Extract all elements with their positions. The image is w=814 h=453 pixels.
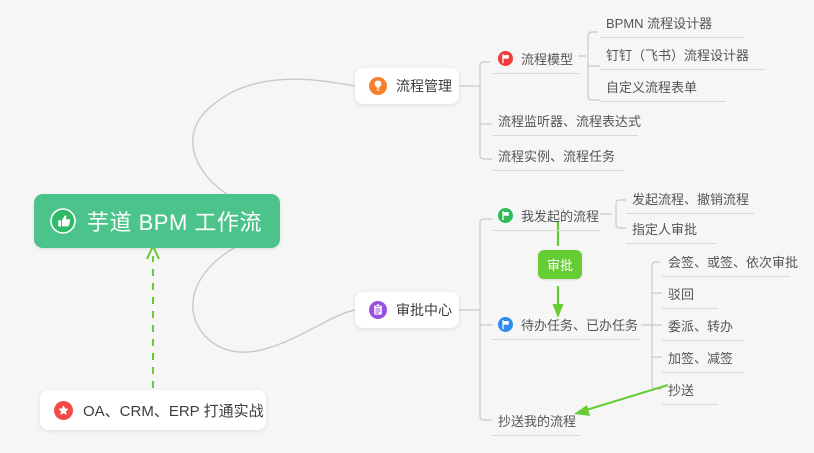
integration-dashed-arrow	[147, 246, 159, 388]
leaf-bpmn-designer[interactable]: BPMN 流程设计器	[600, 10, 744, 38]
leaf-process-listener[interactable]: 流程监听器、流程表达式	[492, 108, 638, 136]
leaf-label: 待办任务、已办任务	[521, 315, 638, 334]
leaf-dingtalk-designer[interactable]: 钉钉（飞书）流程设计器	[600, 42, 765, 70]
clipboard-icon	[369, 301, 387, 319]
star-icon	[54, 401, 73, 420]
root-node[interactable]: 芋道 BPM 工作流	[34, 194, 280, 248]
thumbs-up-icon	[50, 208, 76, 234]
leaf-todo-done-tasks[interactable]: 待办任务、已办任务	[492, 312, 641, 340]
flag-icon	[498, 317, 513, 332]
leaf-reject[interactable]: 驳回	[662, 281, 718, 309]
branch-process-management[interactable]: 流程管理	[355, 68, 459, 104]
lightbulb-icon	[369, 77, 387, 95]
root-label: 芋道 BPM 工作流	[87, 205, 262, 237]
leaf-custom-form[interactable]: 自定义流程表单	[600, 74, 726, 102]
cc-flow-arrow	[574, 385, 668, 416]
leaf-process-instance[interactable]: 流程实例、流程任务	[492, 143, 624, 171]
mindmap-canvas: 芋道 BPM 工作流 流程管理 流程模型 BPMN 流程设计器 钉钉（飞书）流程…	[0, 0, 814, 453]
leaf-cc-to-me-process[interactable]: 抄送我的流程	[492, 408, 580, 436]
branch-label: 流程管理	[396, 76, 452, 96]
branch-approval-center[interactable]: 审批中心	[355, 292, 459, 328]
integration-card[interactable]: OA、CRM、ERP 打通实战	[40, 390, 266, 430]
leaf-delegate-transfer[interactable]: 委派、转办	[662, 313, 744, 341]
leaf-label: 我发起的流程	[521, 206, 599, 225]
branch-label: 审批中心	[396, 300, 452, 320]
leaf-start-cancel-process[interactable]: 发起流程、撤销流程	[626, 186, 754, 214]
leaf-assignee-approval[interactable]: 指定人审批	[626, 216, 716, 244]
annotation-approval-chip: 审批	[538, 250, 582, 279]
leaf-add-remove-sign[interactable]: 加签、减签	[662, 345, 744, 373]
leaf-label: 流程模型	[521, 49, 573, 68]
leaf-cc[interactable]: 抄送	[662, 377, 718, 405]
integration-label: OA、CRM、ERP 打通实战	[83, 400, 264, 421]
leaf-countersign[interactable]: 会签、或签、依次审批	[662, 249, 790, 277]
flag-icon	[498, 208, 513, 223]
flag-icon	[498, 51, 513, 66]
leaf-process-model[interactable]: 流程模型	[492, 46, 580, 74]
leaf-my-initiated-process[interactable]: 我发起的流程	[492, 203, 600, 231]
